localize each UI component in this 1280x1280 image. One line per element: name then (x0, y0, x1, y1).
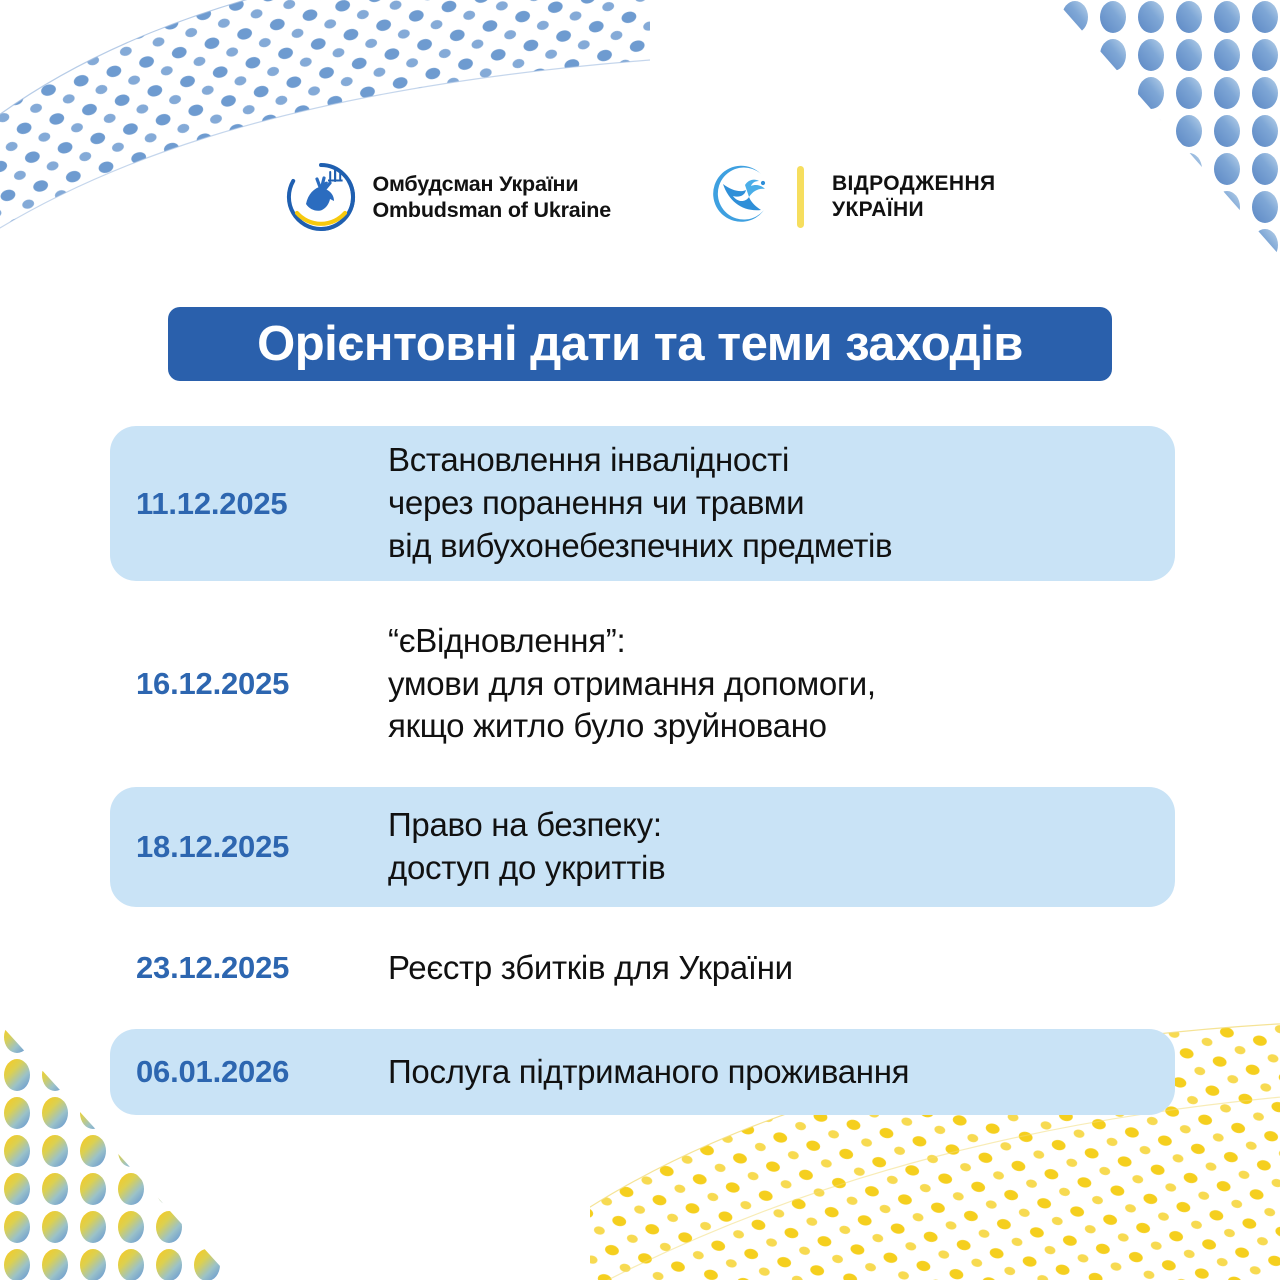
schedule-topic-line: “єВідновлення”: (388, 620, 1157, 663)
logo-divider (797, 166, 804, 228)
decorative-dots-top-right (980, 0, 1280, 290)
ombudsman-name-en: Ombudsman of Ukraine (372, 197, 611, 223)
schedule-topic-1: Встановлення інвалідності через пораненн… (388, 439, 1157, 568)
row-spacer (110, 581, 1175, 599)
schedule-topic-line: від вибухонебезпечних предметів (388, 525, 1157, 568)
schedule-topic-line: доступ до укриттів (388, 847, 1157, 890)
schedule-list: 11.12.2025 Встановлення інвалідності чер… (110, 426, 1175, 1115)
schedule-row-2[interactable]: 16.12.2025 “єВідновлення”: умови для отр… (110, 599, 1175, 769)
schedule-date-2: 16.12.2025 (126, 666, 388, 702)
row-spacer (110, 769, 1175, 787)
dove-trident-circle-logo-icon (284, 160, 358, 234)
phoenix-circle-logo-icon (707, 162, 777, 232)
page-title: Орієнтовні дати та теми заходів (257, 320, 1023, 369)
schedule-topic-line: Встановлення інвалідності (388, 439, 1157, 482)
schedule-date-5: 06.01.2026 (126, 1054, 388, 1090)
schedule-row-4[interactable]: 23.12.2025 Реєстр збитків для України (110, 925, 1175, 1011)
schedule-topic-line: Реєстр збитків для України (388, 947, 1157, 990)
poster-canvas: Омбудсман України Ombudsman of Ukraine В… (0, 0, 1280, 1280)
schedule-topic-4: Реєстр збитків для України (388, 947, 1157, 990)
ombudsman-name-uk: Омбудсман України (372, 171, 611, 197)
schedule-topic-line: умови для отримання допомоги, (388, 663, 1157, 706)
schedule-topic-line: через поранення чи травми (388, 482, 1157, 525)
schedule-topic-2: “єВідновлення”: умови для отримання допо… (388, 620, 1157, 749)
page-title-banner: Орієнтовні дати та теми заходів (168, 307, 1112, 381)
row-spacer (110, 1011, 1175, 1029)
schedule-date-3: 18.12.2025 (126, 829, 388, 865)
schedule-topic-line: якщо житло було зруйновано (388, 705, 1157, 748)
vidrodzhennya-logo: ВІДРОДЖЕННЯ УКРАЇНИ (707, 162, 996, 232)
schedule-topic-line: Послуга підтриманого проживання (388, 1051, 1157, 1094)
schedule-row-5[interactable]: 06.01.2026 Послуга підтриманого проживан… (110, 1029, 1175, 1115)
schedule-topic-5: Послуга підтриманого проживання (388, 1051, 1157, 1094)
schedule-row-1[interactable]: 11.12.2025 Встановлення інвалідності чер… (110, 426, 1175, 581)
ombudsman-logo: Омбудсман України Ombudsman of Ukraine (284, 160, 611, 234)
schedule-topic-line: Право на безпеку: (388, 804, 1157, 847)
vidrodzhennya-line1: ВІДРОДЖЕННЯ (832, 171, 996, 197)
row-spacer (110, 907, 1175, 925)
schedule-topic-3: Право на безпеку: доступ до укриттів (388, 804, 1157, 890)
schedule-date-4: 23.12.2025 (126, 950, 388, 986)
schedule-row-3[interactable]: 18.12.2025 Право на безпеку: доступ до у… (110, 787, 1175, 907)
vidrodzhennya-line2: УКРАЇНИ (832, 197, 996, 223)
schedule-date-1: 11.12.2025 (126, 486, 388, 522)
logo-bar: Омбудсман України Ombudsman of Ukraine В… (0, 160, 1280, 234)
